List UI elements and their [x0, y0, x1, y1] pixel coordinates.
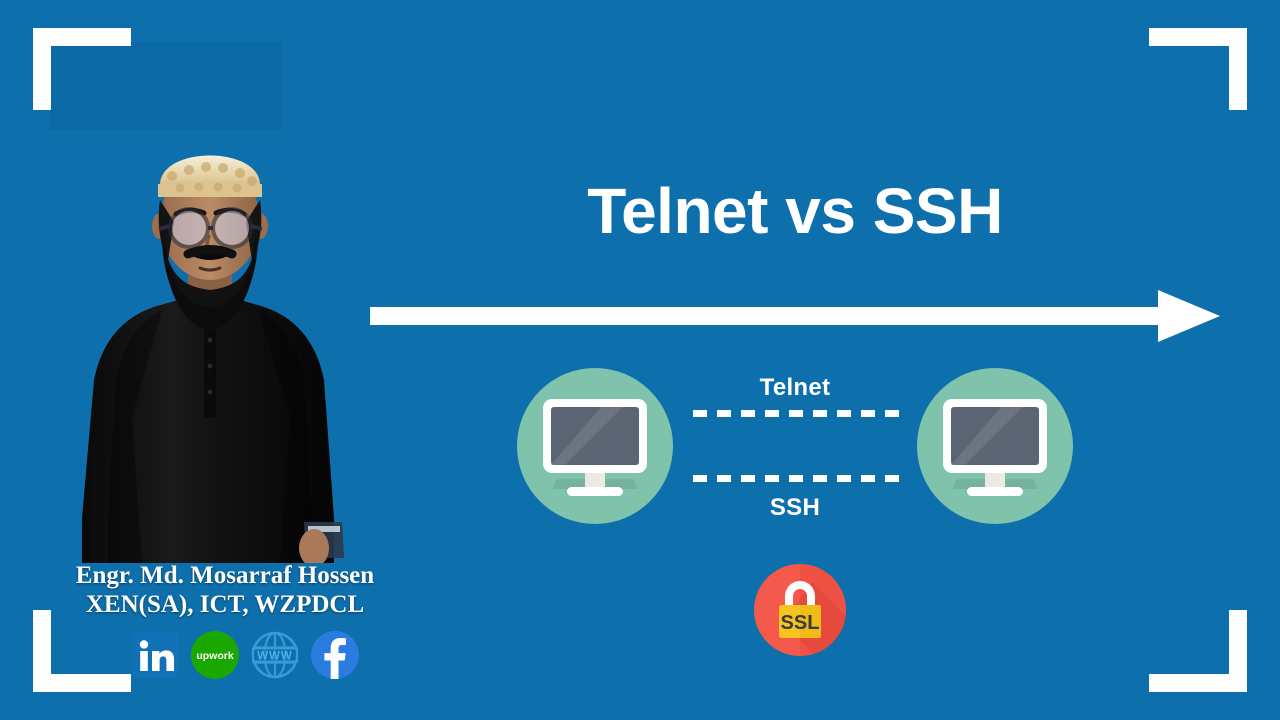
- globe-www-icon: WWW: [247, 627, 303, 683]
- social-link-website[interactable]: WWW: [247, 627, 303, 683]
- social-link-upwork[interactable]: upwork: [187, 627, 243, 683]
- link-label-telnet: Telnet: [685, 374, 905, 402]
- computer-node-right: [917, 368, 1073, 524]
- bracket-arm-vertical: [33, 610, 51, 692]
- page-title: Telnet vs SSH: [370, 178, 1220, 245]
- corner-bracket-top-left: [33, 28, 131, 110]
- presenter-name: Engr. Md. Mosarraf Hossen: [20, 562, 430, 591]
- dashed-link-telnet: [693, 410, 901, 417]
- www-label: WWW: [257, 651, 293, 663]
- presenter-photo: [52, 118, 362, 563]
- corner-bracket-bottom-left: [33, 610, 131, 692]
- bracket-arm-vertical: [1229, 610, 1247, 692]
- link-label-ssh: SSH: [685, 494, 905, 522]
- social-link-facebook[interactable]: [307, 627, 363, 683]
- social-link-linkedin[interactable]: [127, 627, 183, 683]
- slide-canvas: Engr. Md. Mosarraf Hossen XEN(SA), ICT, …: [0, 0, 1280, 720]
- monitor-icon: [935, 391, 1055, 501]
- facebook-icon: [307, 627, 363, 683]
- ssl-lock-icon: SSL: [752, 562, 848, 658]
- bracket-arm-vertical: [33, 28, 51, 110]
- direction-arrow-icon: [368, 288, 1222, 344]
- presenter-credentials: XEN(SA), ICT, WZPDCL: [20, 591, 430, 620]
- dashed-link-ssh: [693, 475, 901, 482]
- corner-bracket-bottom-right: [1149, 610, 1247, 692]
- monitor-icon: [535, 391, 655, 501]
- upwork-icon: upwork: [187, 627, 243, 683]
- ssl-label: SSL: [781, 612, 820, 634]
- ssl-badge: SSL: [752, 562, 848, 658]
- presenter-illustration: [52, 118, 362, 563]
- corner-bracket-top-right: [1149, 28, 1247, 110]
- computer-node-left: [517, 368, 673, 524]
- bracket-arm-vertical: [1229, 28, 1247, 110]
- social-links: upwork WWW: [127, 627, 363, 683]
- upwork-wordmark: upwork: [196, 650, 233, 662]
- presenter-caption: Engr. Md. Mosarraf Hossen XEN(SA), ICT, …: [20, 562, 430, 620]
- linkedin-icon: [127, 627, 183, 683]
